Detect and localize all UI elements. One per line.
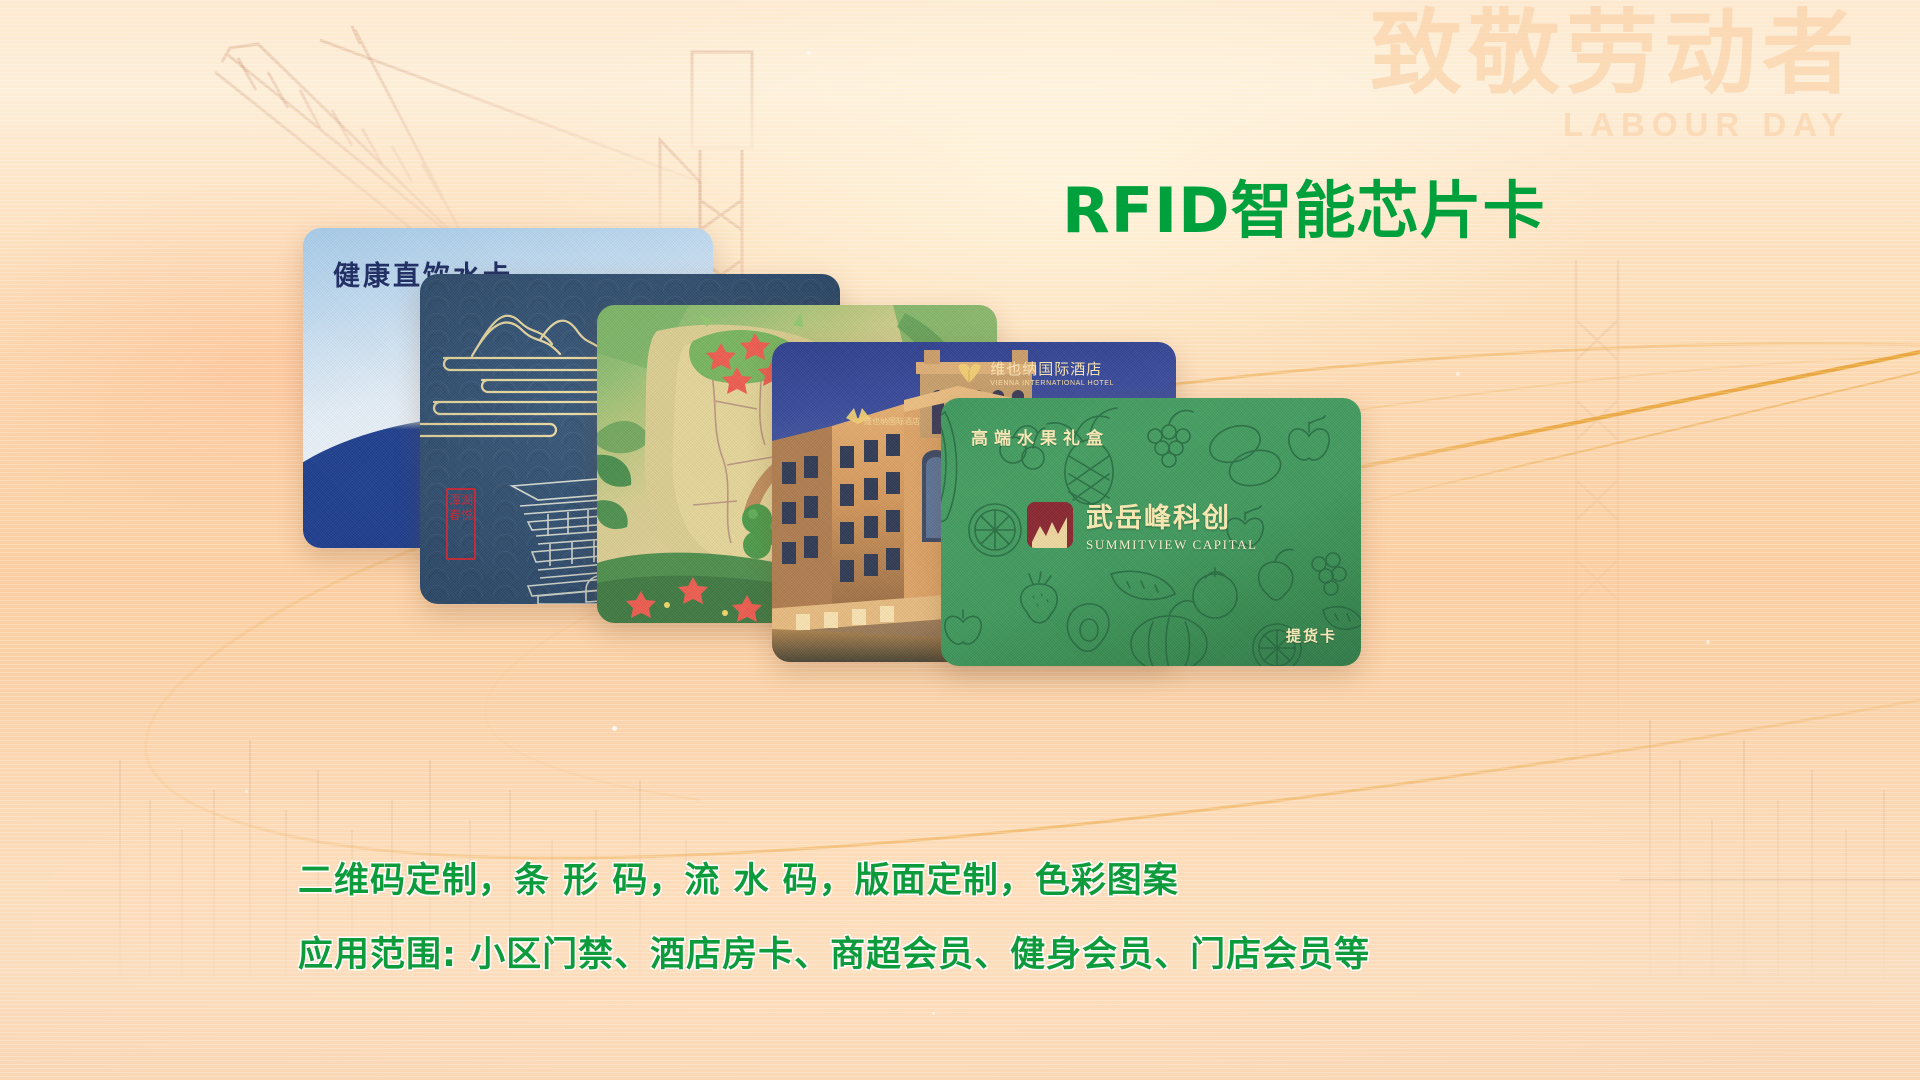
- fruit-pickup-label: 提货卡: [1286, 625, 1337, 646]
- feature-line-applications: 应用范围: 小区门禁、酒店房卡、商超会员、健身会员、门店会员等: [298, 926, 1370, 977]
- vienna-bird-logo-icon: [956, 362, 982, 384]
- feature-copy-block: 二维码定制，条 形 码，流 水 码，版面定制，色彩图案 应用范围: 小区门禁、酒…: [298, 852, 1370, 977]
- hotel-brand-en: VIENNA INTERNATIONAL HOTEL: [990, 380, 1114, 387]
- svg-text:维也纳国际酒店: 维也纳国际酒店: [864, 416, 920, 426]
- feature-line-customization: 二维码定制，条 形 码，流 水 码，版面定制，色彩图案: [298, 852, 1370, 903]
- hotel-brand-cn: 维也纳国际酒店: [990, 358, 1114, 379]
- summitview-brand-cn: 武岳峰科创: [1086, 496, 1258, 535]
- fruit-gift-label: 高端水果礼盒: [971, 424, 1109, 449]
- summitview-brand-en: SUMMITVIEW CAPITAL: [1086, 537, 1258, 553]
- red-seal-stamp: 潭湖春悦: [446, 488, 476, 560]
- summitview-logo-icon: [1027, 502, 1073, 548]
- summitview-brand-block: 武岳峰科创 SUMMITVIEW CAPITAL: [1027, 496, 1258, 553]
- card-summitview-fruit-voucher[interactable]: 高端水果礼盒 武岳峰科创 SUMMITVIEW CAPITAL 提货卡: [941, 398, 1361, 666]
- hotel-brand-block: 维也纳国际酒店 VIENNA INTERNATIONAL HOTEL: [956, 358, 1114, 387]
- promotional-banner: 致敬劳动者 LABOUR DAY RFID智能芯片卡: [0, 0, 1920, 1080]
